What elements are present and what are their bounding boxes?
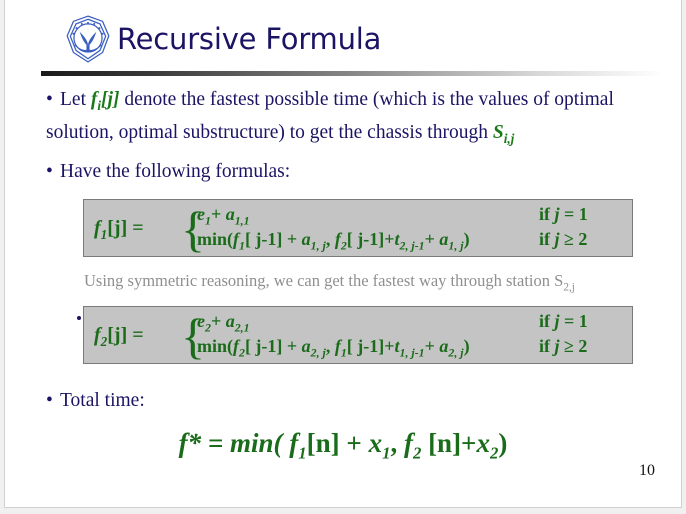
bullet-marker: •: [46, 158, 60, 185]
bullet-marker-formula-2: [77, 316, 81, 320]
bullet-total-time: •Total time:: [46, 387, 145, 414]
formula-box-f1: f1[j] = { e1+ a1,1 if j = 1 min(f1[ j-1]…: [83, 199, 633, 257]
bullet-have-formulas: •Have the following formulas:: [46, 158, 290, 185]
bullet-marker: •: [46, 86, 60, 113]
page-number: 10: [639, 462, 655, 480]
formula-2-case1-cond: if j = 1: [539, 311, 588, 332]
formula-1-case2-expr: min(f1[ j-1] + a1, j, f2[ j-1]+t2, j-1+ …: [197, 229, 470, 254]
math-s-i-j: Si,j: [493, 122, 515, 143]
formula-2-lhs: f2[j] =: [94, 324, 144, 350]
slide-canvas: Recursive Formula •Let fi[j] denote the …: [4, 0, 682, 508]
formula-1-case1-cond: if j = 1: [539, 204, 588, 225]
formula-box-f2: f2[j] = { e2+ a2,1 if j = 1 min(f2[ j-1]…: [83, 306, 633, 364]
bullet-let-fij: •Let fi[j] denote the fastest possible t…: [46, 86, 682, 152]
bullet-1-text-tail: denote the fastest possible time (which …: [46, 89, 614, 143]
slide-title-row: Recursive Formula: [5, 8, 681, 66]
formula-2-case1-expr: e2+ a2,1: [197, 311, 250, 336]
total-time-formula: f* = min( f1[n] + x1, f2 [n]+x2): [5, 428, 681, 463]
university-seal-logo: [62, 13, 114, 65]
symmetric-reasoning-note: Using symmetric reasoning, we can get th…: [84, 271, 575, 293]
formula-1-case1-expr: e1+ a1,1: [197, 204, 250, 229]
formula-1-case2-cond: if j ≥ 2: [539, 229, 587, 250]
bullet-2-text: Have the following formulas:: [60, 161, 290, 182]
bullet-1-text-lead: Let: [60, 89, 91, 110]
formula-2-case2-expr: min(f2[ j-1] + a2, j, f1[ j-1]+t1, j-1+ …: [197, 336, 470, 361]
math-f-i-j: fi[j]: [91, 89, 120, 110]
bullet-marker: •: [46, 387, 60, 414]
title-underline-rule: [41, 71, 663, 76]
bullet-3-text: Total time:: [60, 390, 145, 411]
page-title: Recursive Formula: [117, 22, 381, 56]
formula-2-case2-cond: if j ≥ 2: [539, 336, 587, 357]
formula-1-lhs: f1[j] =: [94, 217, 144, 243]
